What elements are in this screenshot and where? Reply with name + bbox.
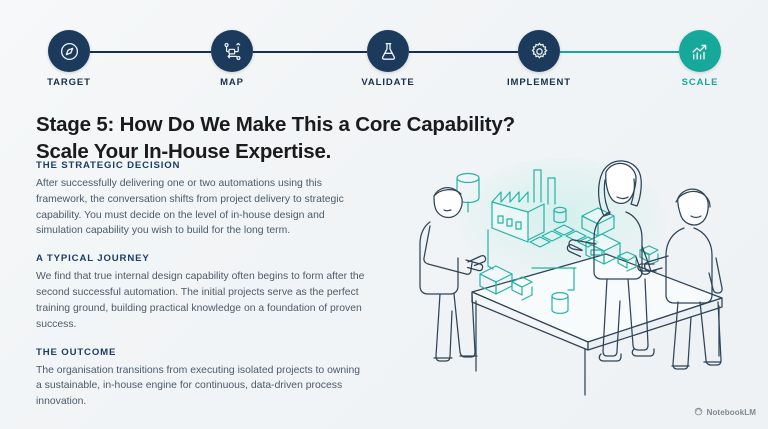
section-body: After successfully delivering one or two… (36, 176, 366, 239)
section-body: We find that true internal design capabi… (36, 269, 366, 332)
notebooklm-watermark: NotebookLM (694, 403, 756, 421)
compass-icon (59, 41, 80, 62)
section-title: THE STRATEGIC DECISION (36, 160, 366, 171)
notebooklm-label: NotebookLM (707, 408, 756, 417)
section-title: A TYPICAL JOURNEY (36, 253, 366, 264)
connector-map-validate (253, 51, 367, 53)
stepper-node-target[interactable] (48, 30, 90, 72)
connector-target-map (90, 51, 211, 53)
stepper-label-implement: IMPLEMENT (464, 77, 614, 88)
stepper-label-scale: SCALE (625, 77, 768, 88)
workflow-icon (222, 41, 243, 62)
stepper-node-map[interactable] (211, 30, 253, 72)
section-body: The organisation transitions from execut… (36, 363, 366, 410)
stepper-label-map: MAP (157, 77, 307, 88)
stepper-label-validate: VALIDATE (313, 77, 463, 88)
section-typical-journey: A TYPICAL JOURNEY We find that true inte… (36, 253, 366, 332)
gear-icon (529, 41, 550, 62)
slide-canvas: TARGET MAP (0, 0, 768, 429)
connector-validate-implement (409, 51, 518, 53)
section-strategic-decision: THE STRATEGIC DECISION After successfull… (36, 160, 366, 239)
headline-line-1: Stage 5: How Do We Make This a Core Capa… (36, 113, 515, 136)
section-title: THE OUTCOME (36, 347, 366, 358)
content-column: THE STRATEGIC DECISION After successfull… (36, 160, 366, 424)
stepper-node-implement[interactable] (518, 30, 560, 72)
flask-icon (378, 41, 399, 62)
stepper-node-scale[interactable] (679, 30, 721, 72)
growth-chart-icon (690, 41, 711, 62)
stage-progress-stepper: TARGET MAP (0, 26, 768, 92)
illustration-three-people-holographic-factory (410, 150, 760, 400)
stepper-node-validate[interactable] (367, 30, 409, 72)
connector-implement-scale (560, 51, 679, 53)
stepper-label-target: TARGET (0, 77, 144, 88)
notebooklm-icon (694, 403, 703, 421)
section-outcome: THE OUTCOME The organisation transitions… (36, 347, 366, 410)
